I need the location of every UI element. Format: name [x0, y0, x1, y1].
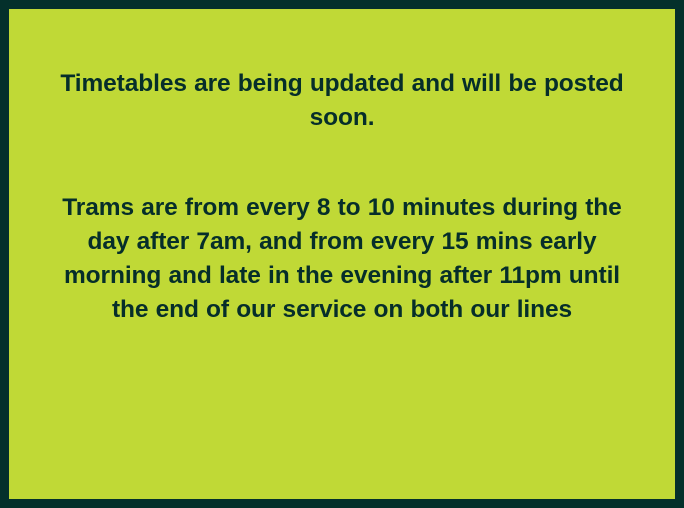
paragraph-spacer	[57, 135, 627, 191]
notice-panel: Timetables are being updated and will be…	[9, 9, 675, 499]
timetable-update-notice: Timetables are being updated and will be…	[57, 67, 627, 135]
notice-frame: Timetables are being updated and will be…	[0, 0, 684, 508]
notice-body: Timetables are being updated and will be…	[9, 67, 675, 327]
tram-frequency-notice: Trams are from every 8 to 10 minutes dur…	[57, 191, 627, 327]
